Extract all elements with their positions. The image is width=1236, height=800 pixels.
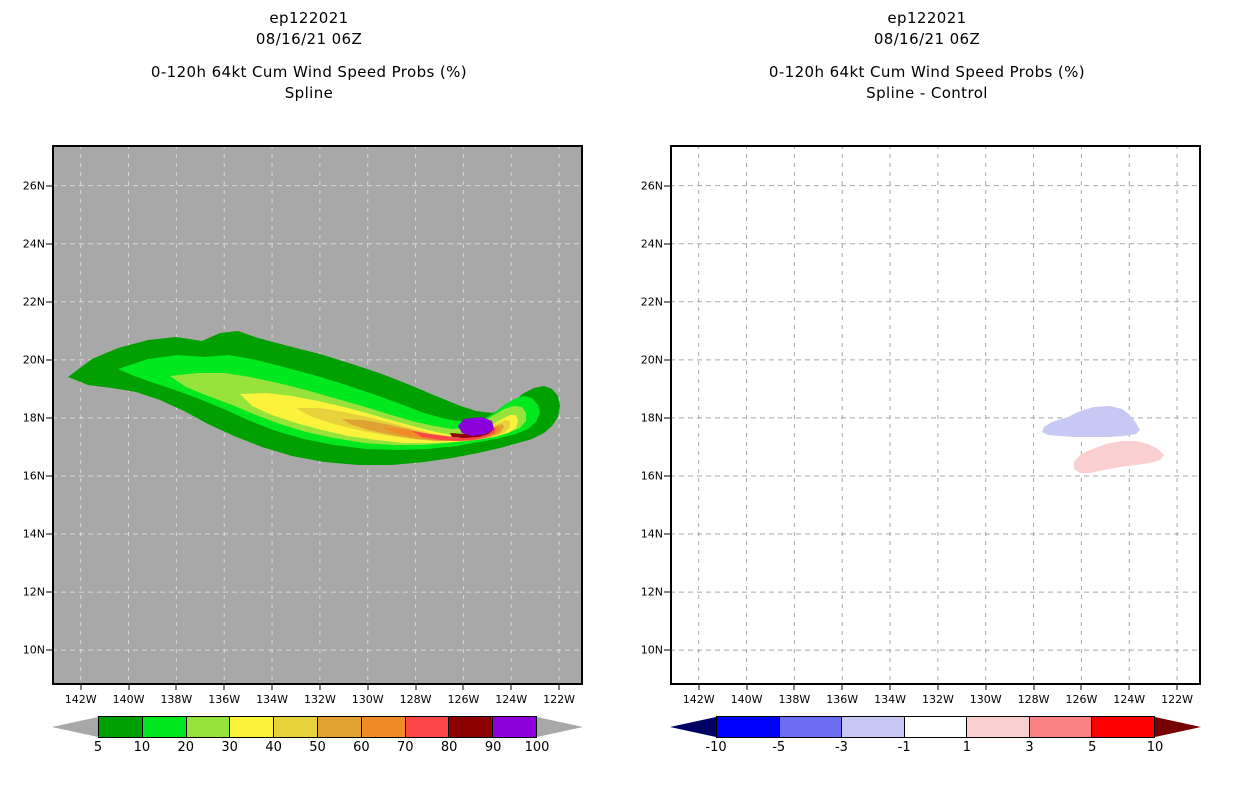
left-colorbar[interactable]: 5102030405060708090100 <box>52 716 583 738</box>
x-tick-mark <box>272 685 273 690</box>
colorbar-swatch-8 <box>449 717 493 737</box>
colorbar-swatch-3 <box>230 717 274 737</box>
colorbar-tick-label: 40 <box>265 740 282 755</box>
colorbar-swatch-7 <box>406 717 450 737</box>
right-colorbar[interactable]: -10-5-3-113510 <box>670 716 1201 738</box>
colorbar-tick-label: -5 <box>772 740 785 755</box>
colorbar-tick-label: 5 <box>94 740 102 755</box>
y-tick-label-10N: 10N <box>641 644 663 657</box>
colorbar-swatch-3 <box>905 717 968 737</box>
right-colorbar-over-cap <box>1155 716 1201 738</box>
y-tick-label-18N: 18N <box>641 411 663 424</box>
x-tick-mark <box>1081 685 1082 690</box>
left-colorbar-over-cap <box>537 716 583 738</box>
y-tick-mark <box>664 534 670 535</box>
colorbar-tick-label: 80 <box>441 740 458 755</box>
right-product-title: 0-120h 64kt Cum Wind Speed Probs (%) <box>618 62 1236 83</box>
y-tick-mark <box>664 301 670 302</box>
left-colorbar-bands <box>98 716 537 738</box>
y-tick-mark <box>664 650 670 651</box>
x-tick-label-128W: 128W <box>400 693 432 706</box>
x-tick-label-142W: 142W <box>65 693 97 706</box>
x-tick-label-126W: 126W <box>447 693 479 706</box>
x-tick-label-136W: 136W <box>826 693 858 706</box>
x-tick-label-136W: 136W <box>208 693 240 706</box>
colorbar-tick-label: 3 <box>1025 740 1033 755</box>
x-tick-mark <box>1033 685 1034 690</box>
x-tick-mark <box>80 685 81 690</box>
left-datetime: 08/16/21 06Z <box>0 29 618 50</box>
left-product-title: 0-120h 64kt Cum Wind Speed Probs (%) <box>0 62 618 83</box>
x-tick-mark <box>511 685 512 690</box>
x-tick-mark <box>367 685 368 690</box>
colorbar-tick-label: 5 <box>1088 740 1096 755</box>
x-tick-label-140W: 140W <box>731 693 763 706</box>
y-tick-mark <box>46 417 52 418</box>
x-tick-label-138W: 138W <box>778 693 810 706</box>
colorbar-swatch-6 <box>362 717 406 737</box>
y-tick-label-16N: 16N <box>23 469 45 482</box>
y-tick-mark <box>664 185 670 186</box>
y-tick-label-24N: 24N <box>23 237 45 250</box>
colorbar-tick-label: 20 <box>178 740 195 755</box>
x-tick-mark <box>559 685 560 690</box>
y-tick-mark <box>46 301 52 302</box>
y-tick-mark <box>46 185 52 186</box>
y-tick-mark <box>46 359 52 360</box>
colorbar-tick-label: 10 <box>134 740 151 755</box>
x-tick-mark <box>319 685 320 690</box>
x-tick-label-132W: 132W <box>304 693 336 706</box>
colorbar-tick-label: 30 <box>221 740 238 755</box>
x-tick-mark <box>842 685 843 690</box>
x-tick-label-134W: 134W <box>256 693 288 706</box>
colorbar-tick-label: 10 <box>1147 740 1164 755</box>
x-tick-mark <box>890 685 891 690</box>
right-plot-area: 10N12N14N16N18N20N22N24N26N 142W140W138W… <box>670 145 1201 685</box>
x-tick-mark <box>176 685 177 690</box>
colorbar-swatch-2 <box>842 717 905 737</box>
colorbar-swatch-4 <box>967 717 1030 737</box>
colorbar-swatch-4 <box>274 717 318 737</box>
colorbar-tick-label: 1 <box>963 740 971 755</box>
y-tick-label-22N: 22N <box>641 295 663 308</box>
y-tick-label-12N: 12N <box>641 586 663 599</box>
colorbar-tick-label: 100 <box>525 740 550 755</box>
y-tick-mark <box>46 475 52 476</box>
right-plot-frame <box>670 145 1201 685</box>
y-tick-label-20N: 20N <box>641 353 663 366</box>
x-tick-mark <box>1177 685 1178 690</box>
x-tick-label-140W: 140W <box>113 693 145 706</box>
colorbar-tick-label: 50 <box>309 740 326 755</box>
x-tick-label-124W: 124W <box>1113 693 1145 706</box>
left-colorbar-under-cap <box>52 716 98 738</box>
x-tick-label-130W: 130W <box>970 693 1002 706</box>
colorbar-swatch-0 <box>717 717 780 737</box>
right-storm-id: ep122021 <box>618 8 1236 29</box>
left-panel-titles: ep122021 08/16/21 06Z 0-120h 64kt Cum Wi… <box>0 8 618 104</box>
y-tick-label-14N: 14N <box>641 528 663 541</box>
x-tick-mark <box>794 685 795 690</box>
y-tick-mark <box>664 243 670 244</box>
colorbar-swatch-1 <box>143 717 187 737</box>
right-panel-titles: ep122021 08/16/21 06Z 0-120h 64kt Cum Wi… <box>618 8 1236 104</box>
x-tick-label-124W: 124W <box>495 693 527 706</box>
panel-spline: ep122021 08/16/21 06Z 0-120h 64kt Cum Wi… <box>0 0 618 800</box>
colorbar-swatch-6 <box>1092 717 1154 737</box>
colorbar-tick-label: -10 <box>705 740 726 755</box>
left-storm-id: ep122021 <box>0 8 618 29</box>
colorbar-swatch-0 <box>99 717 143 737</box>
y-tick-label-26N: 26N <box>23 179 45 192</box>
y-tick-label-12N: 12N <box>23 586 45 599</box>
x-tick-mark <box>985 685 986 690</box>
x-tick-mark <box>746 685 747 690</box>
colorbar-swatch-9 <box>493 717 536 737</box>
colorbar-tick-label: -1 <box>898 740 911 755</box>
y-tick-mark <box>664 475 670 476</box>
x-tick-label-126W: 126W <box>1065 693 1097 706</box>
right-colorbar-bands <box>716 716 1155 738</box>
x-tick-mark <box>937 685 938 690</box>
x-tick-mark <box>415 685 416 690</box>
y-tick-label-10N: 10N <box>23 644 45 657</box>
x-tick-mark <box>128 685 129 690</box>
x-tick-label-122W: 122W <box>543 693 575 706</box>
colorbar-tick-label: 70 <box>397 740 414 755</box>
x-tick-mark <box>463 685 464 690</box>
x-tick-label-138W: 138W <box>160 693 192 706</box>
left-plot-frame <box>52 145 583 685</box>
colorbar-tick-label: -3 <box>835 740 848 755</box>
panel-spline-minus-control: ep122021 08/16/21 06Z 0-120h 64kt Cum Wi… <box>618 0 1236 800</box>
x-tick-label-130W: 130W <box>352 693 384 706</box>
right-datetime: 08/16/21 06Z <box>618 29 1236 50</box>
x-tick-mark <box>1129 685 1130 690</box>
y-tick-mark <box>46 534 52 535</box>
x-tick-label-128W: 128W <box>1018 693 1050 706</box>
colorbar-swatch-2 <box>187 717 231 737</box>
y-tick-label-20N: 20N <box>23 353 45 366</box>
y-tick-mark <box>46 650 52 651</box>
y-tick-label-14N: 14N <box>23 528 45 541</box>
y-tick-label-26N: 26N <box>641 179 663 192</box>
y-tick-mark <box>46 592 52 593</box>
x-tick-label-122W: 122W <box>1161 693 1193 706</box>
y-tick-label-24N: 24N <box>641 237 663 250</box>
y-tick-mark <box>664 359 670 360</box>
y-tick-mark <box>664 417 670 418</box>
colorbar-swatch-5 <box>1030 717 1093 737</box>
x-tick-mark <box>224 685 225 690</box>
right-colorbar-under-cap <box>670 716 716 738</box>
colorbar-swatch-1 <box>780 717 843 737</box>
y-tick-label-16N: 16N <box>641 469 663 482</box>
colorbar-swatch-5 <box>318 717 362 737</box>
left-plot-area: 10N12N14N16N18N20N22N24N26N 142W140W138W… <box>52 145 583 685</box>
x-tick-label-142W: 142W <box>683 693 715 706</box>
y-tick-label-22N: 22N <box>23 295 45 308</box>
colorbar-tick-label: 60 <box>353 740 370 755</box>
y-tick-mark <box>46 243 52 244</box>
right-subtitle: Spline - Control <box>618 83 1236 104</box>
x-tick-label-134W: 134W <box>874 693 906 706</box>
x-tick-label-132W: 132W <box>922 693 954 706</box>
colorbar-tick-label: 90 <box>485 740 502 755</box>
y-tick-label-18N: 18N <box>23 411 45 424</box>
left-subtitle: Spline <box>0 83 618 104</box>
y-tick-mark <box>664 592 670 593</box>
x-tick-mark <box>698 685 699 690</box>
